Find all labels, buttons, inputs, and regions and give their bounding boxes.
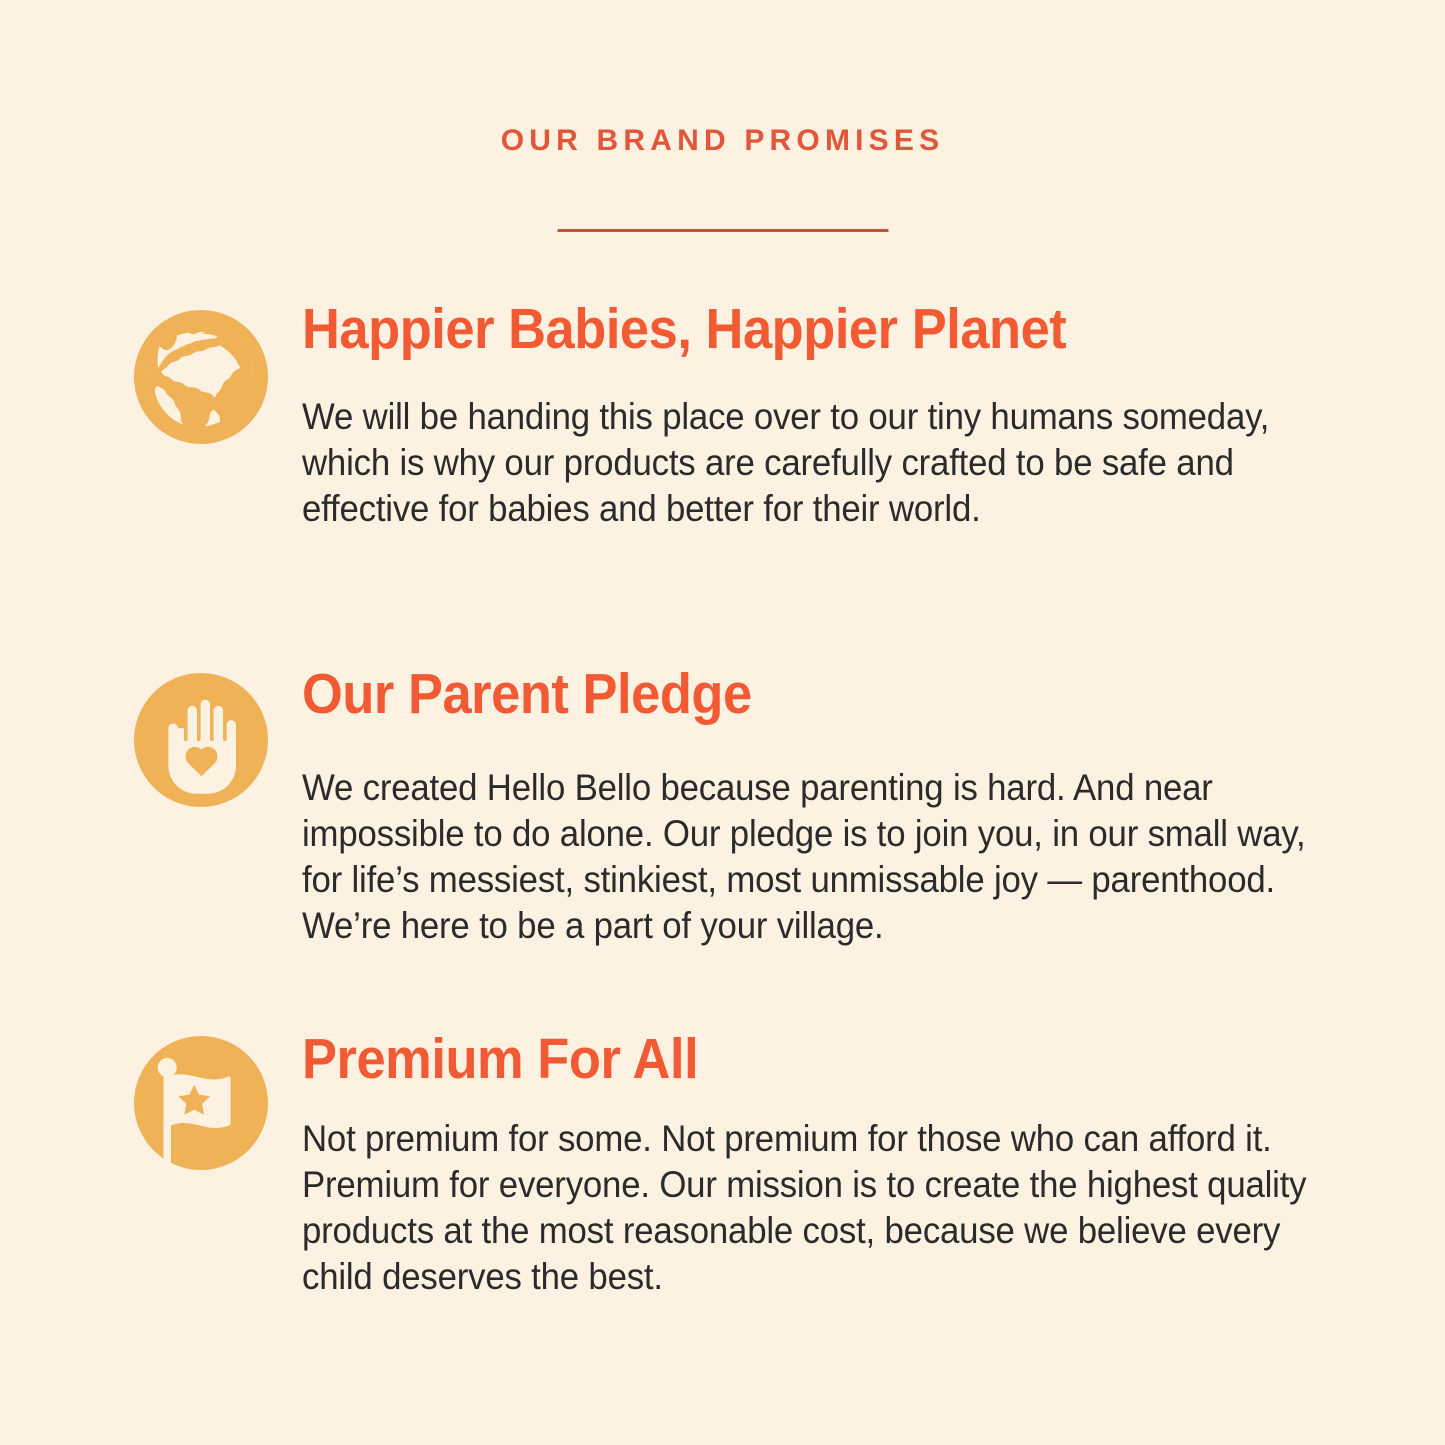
title-divider [557,229,888,232]
hand-heart-icon [134,673,268,807]
promise-title: Premium For All [302,1030,1250,1090]
header: OUR BRAND PROMISES [0,126,1445,156]
promise-title: Happier Babies, Happier Planet [302,300,1250,360]
globe-icon [134,310,268,444]
promise-title: Our Parent Pledge [302,665,1250,725]
promise-description: Not premium for some. Not premium for th… [302,1116,1322,1300]
brand-promises-page: OUR BRAND PROMISES Happier Babies, Happi… [0,0,1445,1445]
promise-description: We created Hello Bello because parenting… [302,765,1336,949]
promise-content: Our Parent Pledge We created Hello Bello… [302,665,1332,949]
promise-content: Happier Babies, Happier Planet We will b… [302,300,1332,532]
promise-content: Premium For All Not premium for some. No… [302,1030,1332,1300]
promise-description: We will be handing this place over to ou… [302,394,1280,532]
flag-star-icon [134,1036,268,1170]
page-title: OUR BRAND PROMISES [0,126,1445,156]
